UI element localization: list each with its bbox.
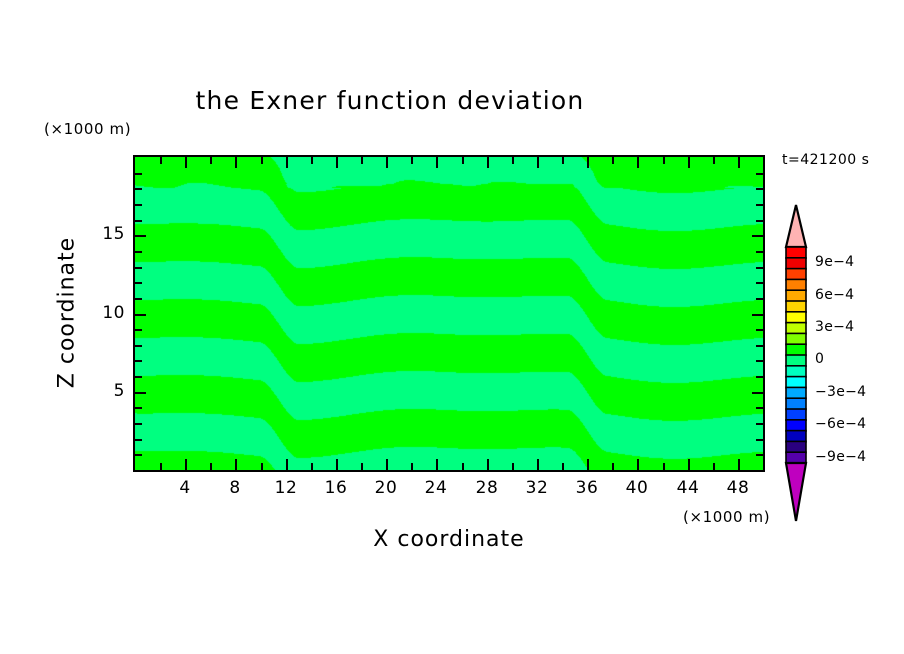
colorbar-segment: [786, 333, 806, 344]
colorbar-segment: [786, 355, 806, 366]
x-axis-minor-tick: [261, 463, 263, 470]
colorbar-segment: [786, 258, 806, 269]
colorbar-tick-label: 3e−4: [815, 319, 854, 335]
colorbar: [779, 203, 813, 523]
x-axis-minor-tick: [210, 463, 212, 470]
y-axis-minor-tick: [135, 454, 142, 456]
x-axis-major-tick-top: [637, 157, 639, 168]
x-axis-tick-label: 16: [314, 478, 358, 498]
x-axis-major-tick: [436, 459, 438, 470]
colorbar-tick-label: −6e−4: [815, 416, 866, 432]
colorbar-segment: [786, 398, 806, 409]
x-axis-major-tick: [336, 459, 338, 470]
colorbar-under-arrow: [786, 463, 806, 521]
x-axis-tick-label: 48: [716, 478, 760, 498]
x-axis-minor-tick-top: [562, 157, 564, 164]
y-axis-major-tick-right: [752, 235, 763, 237]
y-axis-title: Z coordinate: [55, 213, 80, 413]
y-axis-minor-tick-right: [756, 329, 763, 331]
x-axis-major-tick-top: [688, 157, 690, 168]
y-axis-minor-tick-right: [756, 423, 763, 425]
y-axis-minor-tick: [135, 220, 142, 222]
z-axis-unit-label: (×1000 m): [44, 120, 131, 138]
y-axis-minor-tick-right: [756, 360, 763, 362]
colorbar-segment: [786, 366, 806, 377]
y-axis-minor-tick-right: [756, 251, 763, 253]
y-axis-minor-tick-right: [756, 204, 763, 206]
x-axis-major-tick-top: [537, 157, 539, 168]
x-axis-tick-label: 8: [213, 478, 257, 498]
x-axis-tick-label: 36: [565, 478, 609, 498]
y-axis-minor-tick: [135, 360, 142, 362]
x-axis-major-tick-top: [738, 157, 740, 168]
x-axis-minor-tick-top: [311, 157, 313, 164]
x-axis-tick-label: 40: [615, 478, 659, 498]
x-axis-minor-tick: [663, 463, 665, 470]
y-axis-tick-label: 5: [85, 381, 125, 401]
x-axis-minor-tick-top: [612, 157, 614, 164]
x-axis-minor-tick-top: [512, 157, 514, 164]
y-axis-minor-tick-right: [756, 267, 763, 269]
y-axis-minor-tick-right: [756, 345, 763, 347]
colorbar-segment: [786, 387, 806, 398]
x-axis-major-tick: [637, 459, 639, 470]
colorbar-segment: [786, 247, 806, 258]
colorbar-gradient: [779, 203, 813, 523]
contour-plot-area: [133, 155, 765, 472]
x-axis-major-tick-top: [587, 157, 589, 168]
y-axis-minor-tick-right: [756, 439, 763, 441]
colorbar-segment: [786, 323, 806, 334]
x-axis-minor-tick: [512, 463, 514, 470]
x-axis-minor-tick-top: [210, 157, 212, 164]
x-axis-minor-tick: [562, 463, 564, 470]
x-axis-minor-tick-top: [361, 157, 363, 164]
y-axis-minor-tick: [135, 298, 142, 300]
y-axis-minor-tick: [135, 376, 142, 378]
x-axis-minor-tick: [411, 463, 413, 470]
y-axis-minor-tick: [135, 407, 142, 409]
x-axis-major-tick: [386, 459, 388, 470]
y-axis-minor-tick: [135, 345, 142, 347]
x-axis-minor-tick-top: [462, 157, 464, 164]
colorbar-over-arrow: [786, 205, 806, 247]
x-axis-tick-label: 32: [515, 478, 559, 498]
y-axis-minor-tick-right: [756, 173, 763, 175]
y-axis-minor-tick-right: [756, 376, 763, 378]
y-axis-major-tick: [135, 235, 146, 237]
x-axis-major-tick-top: [436, 157, 438, 168]
x-axis-minor-tick-top: [411, 157, 413, 164]
x-axis-minor-tick: [612, 463, 614, 470]
page-title: the Exner function deviation: [0, 86, 780, 115]
colorbar-segment: [786, 441, 806, 452]
x-axis-minor-tick: [462, 463, 464, 470]
y-axis-minor-tick-right: [756, 298, 763, 300]
colorbar-segment: [786, 409, 806, 420]
colorbar-segment: [786, 301, 806, 312]
y-axis-major-tick: [135, 314, 146, 316]
colorbar-segment: [786, 377, 806, 388]
x-axis-major-tick-top: [185, 157, 187, 168]
x-axis-major-tick-top: [487, 157, 489, 168]
y-axis-major-tick-right: [752, 314, 763, 316]
y-axis-minor-tick: [135, 423, 142, 425]
timestamp-annotation: t=421200 s: [782, 152, 869, 168]
x-axis-tick-label: 12: [264, 478, 308, 498]
colorbar-segment: [786, 344, 806, 355]
y-axis-minor-tick: [135, 204, 142, 206]
x-axis-minor-tick: [361, 463, 363, 470]
x-axis-minor-tick: [311, 463, 313, 470]
y-axis-minor-tick-right: [756, 454, 763, 456]
colorbar-segment: [786, 312, 806, 323]
y-axis-minor-tick: [135, 329, 142, 331]
x-axis-major-tick: [688, 459, 690, 470]
x-axis-major-tick: [537, 459, 539, 470]
y-axis-minor-tick: [135, 188, 142, 190]
x-axis-tick-label: 4: [163, 478, 207, 498]
x-axis-major-tick-top: [235, 157, 237, 168]
colorbar-tick-label: 0: [815, 351, 824, 367]
colorbar-tick-label: 9e−4: [815, 254, 854, 270]
y-axis-minor-tick: [135, 439, 142, 441]
x-axis-major-tick: [286, 459, 288, 470]
y-axis-tick-label: 10: [85, 303, 125, 323]
colorbar-segment: [786, 452, 806, 463]
contour-field: [135, 157, 763, 470]
x-axis-minor-tick-top: [713, 157, 715, 164]
y-axis-major-tick: [135, 392, 146, 394]
x-axis-title: X coordinate: [233, 527, 665, 552]
x-axis-minor-tick: [713, 463, 715, 470]
y-axis-minor-tick: [135, 251, 142, 253]
x-axis-major-tick-top: [336, 157, 338, 168]
colorbar-segment: [786, 420, 806, 431]
y-axis-tick-label: 15: [85, 224, 125, 244]
colorbar-segment: [786, 279, 806, 290]
y-axis-minor-tick-right: [756, 188, 763, 190]
y-axis-minor-tick: [135, 267, 142, 269]
x-axis-minor-tick: [160, 463, 162, 470]
x-axis-unit-label: (×1000 m): [683, 508, 770, 526]
colorbar-segment: [786, 269, 806, 280]
x-axis-major-tick: [587, 459, 589, 470]
y-axis-minor-tick-right: [756, 407, 763, 409]
x-axis-major-tick: [738, 459, 740, 470]
x-axis-tick-label: 28: [465, 478, 509, 498]
x-axis-minor-tick-top: [663, 157, 665, 164]
x-axis-major-tick-top: [386, 157, 388, 168]
x-axis-minor-tick-top: [261, 157, 263, 164]
x-axis-tick-label: 20: [364, 478, 408, 498]
y-axis-minor-tick-right: [756, 282, 763, 284]
x-axis-major-tick: [185, 459, 187, 470]
colorbar-segment: [786, 290, 806, 301]
y-axis-major-tick-right: [752, 392, 763, 394]
colorbar-tick-label: −9e−4: [815, 449, 866, 465]
x-axis-major-tick: [487, 459, 489, 470]
x-axis-minor-tick-top: [160, 157, 162, 164]
colorbar-tick-label: 6e−4: [815, 287, 854, 303]
x-axis-major-tick-top: [286, 157, 288, 168]
y-axis-minor-tick: [135, 282, 142, 284]
x-axis-tick-label: 24: [414, 478, 458, 498]
x-axis-tick-label: 44: [666, 478, 710, 498]
colorbar-segment: [786, 431, 806, 442]
x-axis-major-tick: [235, 459, 237, 470]
colorbar-tick-label: −3e−4: [815, 384, 866, 400]
y-axis-minor-tick-right: [756, 220, 763, 222]
y-axis-minor-tick: [135, 173, 142, 175]
